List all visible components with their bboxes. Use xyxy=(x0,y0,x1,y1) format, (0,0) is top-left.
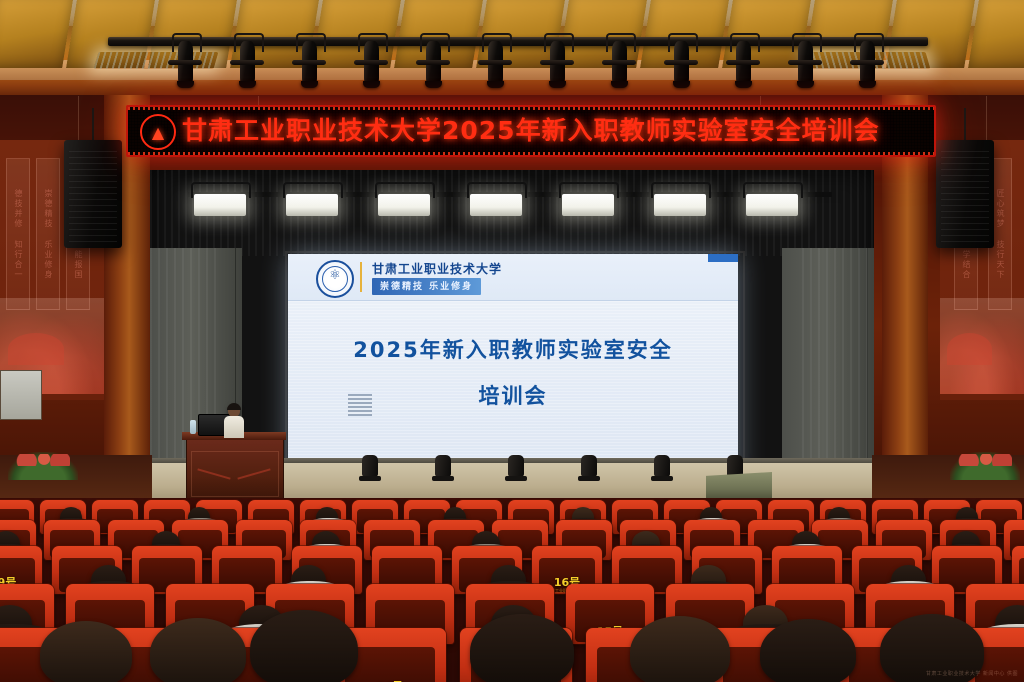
stage-spotlight-icon xyxy=(294,33,324,91)
flood-light-cage xyxy=(283,182,343,198)
side-whiteboard xyxy=(0,370,42,420)
logo-glyph: ⚛ xyxy=(318,269,352,282)
auditorium-screenshot: 德技并修 知行合一 崇德精技 乐业修身 立德树人 技能报国 实践创新 工学结合 … xyxy=(0,0,1024,682)
slide-title-line2: 培训会 xyxy=(288,380,738,410)
stage-spotlight-icon xyxy=(852,33,882,91)
university-logo-icon: ⚛ xyxy=(316,260,354,298)
rigging-wire xyxy=(986,96,987,142)
floor-stage-light-icon xyxy=(435,455,451,477)
presenter-hair xyxy=(227,403,241,410)
spotlight-lens xyxy=(735,81,752,88)
stage-spotlight-icon xyxy=(790,33,820,91)
spotlight-lens xyxy=(797,81,814,88)
slide-university-name: 甘肃工业职业技术大学 xyxy=(372,260,502,277)
stage-spotlight-icon xyxy=(728,33,758,91)
spotlight-clamp xyxy=(602,60,636,65)
floor-stage-light-icon xyxy=(654,455,670,477)
audience-head-foreground xyxy=(760,619,856,682)
audience-area: 9号甘肃工业职业技术大学16号甘肃工业职业技术大学15号甘肃工业职业技术大学14… xyxy=(0,498,1024,682)
wall-art-text-strip: 德技并修 知行合一 xyxy=(6,158,30,310)
flood-light-icon xyxy=(654,194,706,216)
spotlight-lens xyxy=(301,81,318,88)
presenter-torso xyxy=(224,416,244,438)
led-banner: ▲ 甘肃工业职业技术大学2025年新入职教师实验室安全培训会 xyxy=(126,105,936,157)
slide-header: ⚛ 甘肃工业职业技术大学 崇德精技 乐业修身 xyxy=(288,254,738,301)
speaker-rigging xyxy=(92,108,94,142)
spotlight-clamp xyxy=(292,60,326,65)
flood-light-icon xyxy=(746,194,798,216)
stage-spotlight-icon xyxy=(480,33,510,91)
audience-head-foreground xyxy=(470,614,574,682)
speaker-grill-icon xyxy=(941,146,989,242)
audience-head-foreground xyxy=(630,616,730,682)
spotlight-clamp xyxy=(664,60,698,65)
stage-spotlight-icon xyxy=(356,33,386,91)
spotlight-lens xyxy=(549,81,566,88)
projection-screen: ⚛ 甘肃工业职业技术大学 崇德精技 乐业修身 2025年新入职教师实验室安全 培… xyxy=(288,254,738,482)
spotlight-lens xyxy=(611,81,628,88)
spotlight-lens xyxy=(859,81,876,88)
seat-back-well xyxy=(345,647,435,682)
flood-light-cage xyxy=(743,182,803,198)
spotlight-clamp xyxy=(168,60,202,65)
flood-light-icon xyxy=(562,194,614,216)
photo-watermark: 甘肃工业职业技术大学 新闻中心 供图 xyxy=(926,671,1018,678)
audience-head-foreground xyxy=(150,618,246,682)
spotlight-clamp xyxy=(416,60,450,65)
spotlight-lens xyxy=(425,81,442,88)
slide-header-divider xyxy=(360,262,362,292)
spotlight-clamp xyxy=(230,60,264,65)
presenter-person xyxy=(224,404,244,436)
seat-number-badge: 14号 xyxy=(377,678,403,682)
spotlight-clamp xyxy=(726,60,760,65)
flood-light-icon xyxy=(194,194,246,216)
spotlight-clamp xyxy=(850,60,884,65)
slide-corner-tab xyxy=(708,254,738,262)
flood-light-cage xyxy=(651,182,711,198)
ceiling-bay xyxy=(0,0,74,68)
spotlight-clamp xyxy=(354,60,388,65)
hanging-speaker-right xyxy=(936,140,994,248)
speaker-rigging xyxy=(964,108,966,142)
water-bottle xyxy=(190,420,196,434)
wall-art-landscape xyxy=(940,298,1024,394)
flood-light-cage xyxy=(191,182,251,198)
flood-light-icon xyxy=(470,194,522,216)
floor-stage-light-icon xyxy=(727,455,743,477)
flood-light-icon xyxy=(286,194,338,216)
led-banner-text: 甘肃工业职业技术大学2025年新入职教师实验室安全培训会 xyxy=(182,107,926,155)
ceiling-bay xyxy=(968,0,1024,68)
stage-spotlight-icon xyxy=(418,33,448,91)
spotlight-lens xyxy=(239,81,256,88)
lectern xyxy=(186,438,284,502)
stage-spotlight-icon xyxy=(542,33,572,91)
spotlight-lens xyxy=(487,81,504,88)
lectern-front-panel xyxy=(191,451,279,497)
flood-light-cage xyxy=(467,182,527,198)
spotlight-lens xyxy=(177,81,194,88)
wall-art-text-strip: 崇德精技 乐业修身 xyxy=(36,158,60,310)
floor-stage-light-icon xyxy=(581,455,597,477)
stage-spotlight-icon xyxy=(170,33,200,91)
slide-title-line1: 2025年新入职教师实验室安全 xyxy=(288,340,738,361)
rigging-wire xyxy=(78,96,79,142)
spotlight-lens xyxy=(673,81,690,88)
stage-spotlight-icon xyxy=(604,33,634,91)
curtain-valance xyxy=(150,170,874,256)
audience-head-foreground xyxy=(40,621,132,682)
stage-spotlight-icon xyxy=(232,33,262,91)
floor-stage-light-icon xyxy=(362,455,378,477)
stage-spotlight-icon xyxy=(666,33,696,91)
spotlight-clamp xyxy=(540,60,574,65)
speaker-grill-icon xyxy=(69,146,117,242)
flood-light-cage xyxy=(375,182,435,198)
floor-stage-light-icon xyxy=(508,455,524,477)
university-seal-icon: ▲ xyxy=(140,114,176,150)
hanging-speaker-left xyxy=(64,140,122,248)
stage-monitor-speaker-right xyxy=(706,472,772,500)
slide-university-motto: 崇德精技 乐业修身 xyxy=(372,278,481,295)
spotlight-lens xyxy=(363,81,380,88)
decor-plant-right xyxy=(950,452,1020,480)
spotlight-clamp xyxy=(478,60,512,65)
decor-plant-left xyxy=(8,452,78,480)
flood-light-icon xyxy=(378,194,430,216)
audience-head-foreground xyxy=(250,610,358,682)
spotlight-clamp xyxy=(788,60,822,65)
flood-light-cage xyxy=(559,182,619,198)
